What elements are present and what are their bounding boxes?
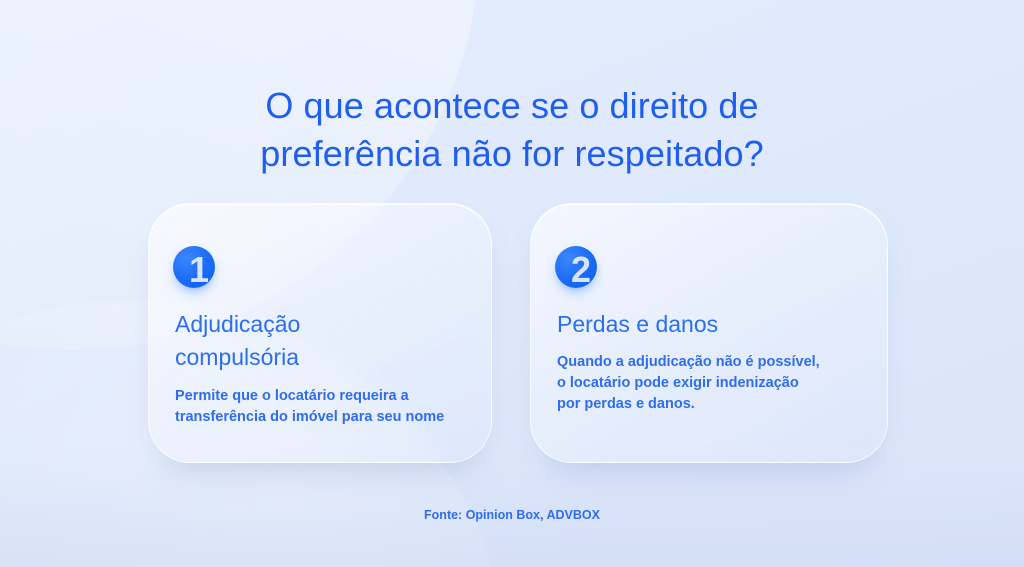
infographic-canvas: O que acontece se o direito de preferênc…: [0, 0, 1024, 567]
source-attribution: Fonte: Opinion Box, ADVBOX: [0, 508, 1024, 522]
card-heading: Perdas e danos: [557, 308, 863, 341]
badge-number-label: 1: [173, 250, 225, 290]
card-perdas-e-danos: 2 Perdas e danos Quando a adjudicação nã…: [530, 203, 888, 463]
number-badge-1: 1: [173, 246, 215, 288]
background-band-bottom: [0, 447, 1024, 567]
badge-number-label: 2: [555, 250, 607, 290]
card-inner: 2 Perdas e danos Quando a adjudicação nã…: [531, 204, 887, 462]
card-body-text: Permite que o locatário requeira a trans…: [175, 386, 473, 428]
card-heading: Adjudicação compulsória: [175, 308, 467, 374]
card-body-text: Quando a adjudicação não é possível, o l…: [557, 352, 869, 415]
number-badge-2: 2: [555, 246, 597, 288]
card-adjudicacao-compulsoria: 1 Adjudicação compulsória Permite que o …: [148, 203, 492, 463]
page-title: O que acontece se o direito de preferênc…: [0, 82, 1024, 178]
card-inner: 1 Adjudicação compulsória Permite que o …: [149, 204, 491, 462]
cards-container: 1 Adjudicação compulsória Permite que o …: [148, 203, 888, 463]
